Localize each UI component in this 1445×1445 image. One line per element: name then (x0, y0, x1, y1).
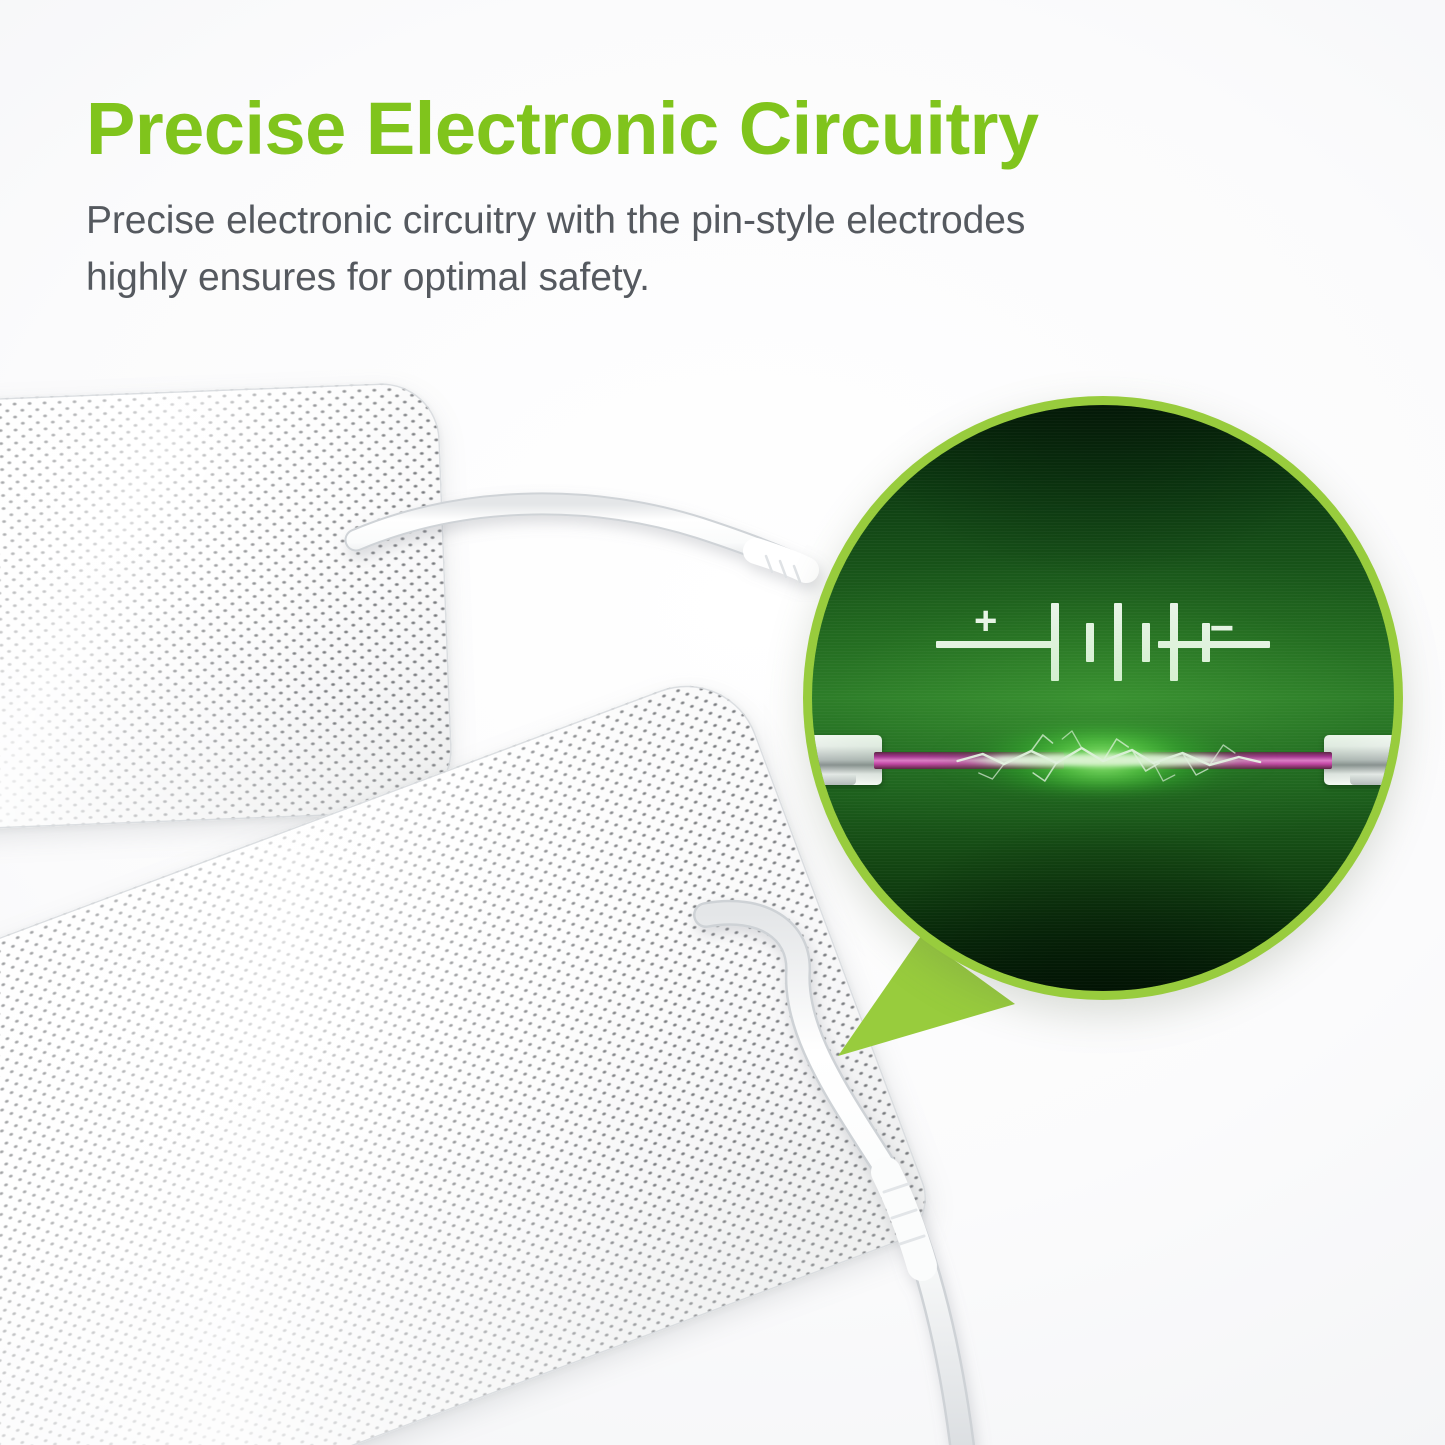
page-subtitle: Precise electronic circuitry with the pi… (86, 192, 1086, 307)
pad-edge (0, 381, 454, 832)
callout-scanlines (812, 405, 1394, 991)
pin-electrode-arc (812, 723, 1394, 797)
battery-plate-tall-3 (1170, 603, 1178, 681)
battery-plate-short-1 (1086, 623, 1094, 662)
battery-plate-short-2 (1142, 623, 1150, 662)
electrode-pad-upper (0, 381, 454, 832)
callout-interior: + − (812, 405, 1394, 991)
connector-sleeve-upper (756, 551, 806, 582)
circuit-callout-circle: + − (803, 396, 1403, 1000)
battery-symbol-icon: + − (936, 601, 1270, 687)
battery-negative-sign: − (1209, 607, 1234, 649)
lightning-bolt-icon (812, 723, 1394, 797)
battery-plate-tall-1 (1051, 603, 1059, 681)
battery-plate-tall-2 (1114, 603, 1122, 681)
page-title: Precise Electronic Circuitry (86, 92, 1246, 166)
feature-text-block: Precise Electronic Circuitry Precise ele… (86, 92, 1246, 307)
battery-positive-sign: + (974, 601, 997, 641)
product-feature-banner: + − (0, 0, 1445, 1445)
